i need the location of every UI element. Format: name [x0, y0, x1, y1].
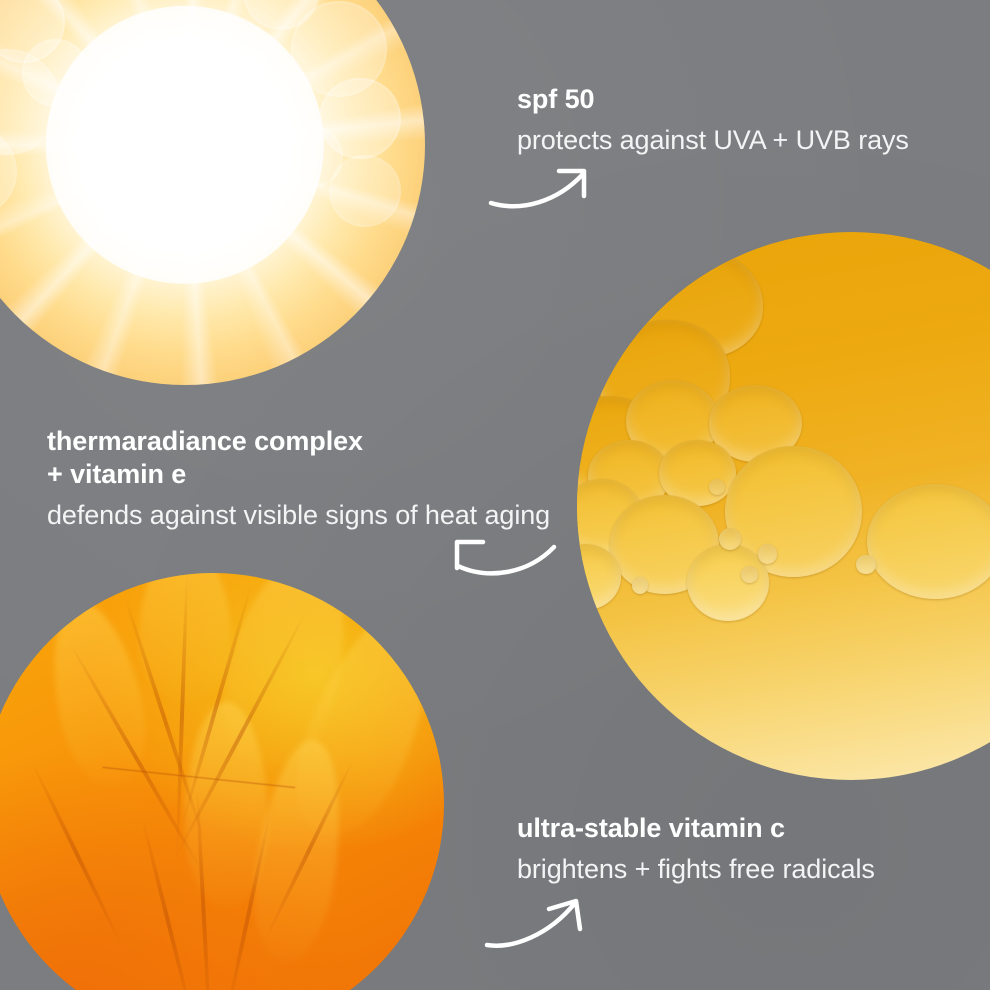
- citrus-vein: [28, 757, 125, 950]
- callout-thermaradiance-headline-line-2: + vitamin e: [47, 458, 550, 491]
- arrow-icon-vitamin-c: [483, 893, 603, 955]
- oil-droplet: [709, 479, 725, 495]
- oil-droplet: [632, 577, 648, 593]
- oil-droplet: [758, 544, 777, 563]
- oil-droplet: [741, 566, 757, 582]
- arrow-icon-thermaradiance: [440, 530, 560, 586]
- bokeh-circle: [329, 155, 401, 227]
- callout-thermaradiance-headline-line-1: thermaradiance complex: [47, 425, 550, 458]
- oil-droplets-image: [577, 232, 990, 780]
- callout-spf-subline: protects against UVA + UVB rays: [517, 124, 909, 157]
- callout-vitamin-c-subline: brightens + fights free radicals: [517, 853, 875, 886]
- bokeh-circle: [22, 39, 89, 106]
- callout-vitamin-c-headline: ultra-stable vitamin c: [517, 812, 875, 845]
- callout-thermaradiance: thermaradiance complex + vitamin e defen…: [47, 425, 550, 532]
- citrus-segment-image: [0, 573, 444, 990]
- callout-thermaradiance-subline: defends against visible signs of heat ag…: [47, 499, 550, 532]
- arrow-icon-spf: [487, 158, 607, 216]
- callout-vitamin-c: ultra-stable vitamin c brightens + fight…: [517, 812, 875, 886]
- oil-droplet: [867, 484, 990, 599]
- sun-burst-image: [0, 0, 425, 385]
- infographic-canvas: spf 50 protects against UVA + UVB rays t…: [0, 0, 990, 990]
- callout-spf: spf 50 protects against UVA + UVB rays: [517, 83, 909, 157]
- callout-spf-headline: spf 50: [517, 83, 909, 116]
- oil-droplet: [856, 555, 875, 574]
- oil-droplet: [687, 544, 769, 621]
